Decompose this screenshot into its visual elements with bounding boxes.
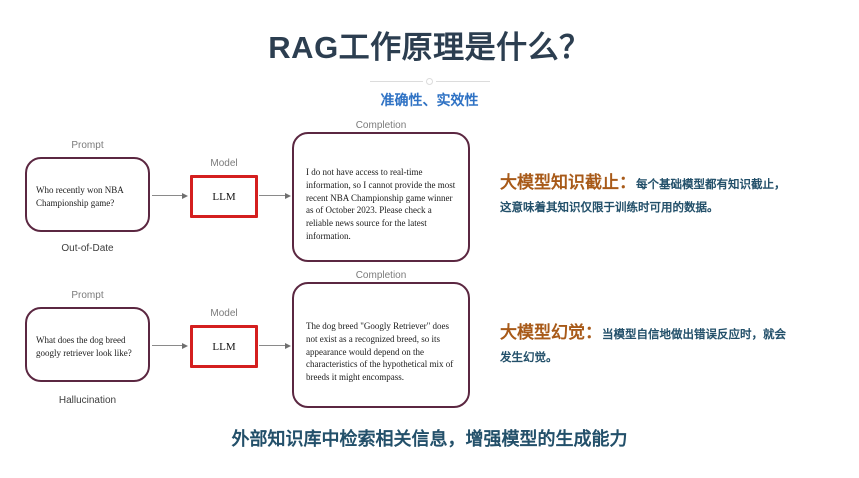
arrow-shaft — [152, 345, 182, 346]
arrow-prompt-to-model-icon — [152, 192, 188, 199]
completion-text: I do not have access to real-time inform… — [306, 166, 458, 243]
completion-box: The dog breed "Googly Retriever" does no… — [292, 282, 470, 408]
model-box: LLM — [190, 175, 258, 218]
arrow-shaft — [152, 195, 182, 196]
model-box: LLM — [190, 325, 258, 368]
prompt-box: What does the dog breed googly retriever… — [25, 307, 150, 382]
title-divider — [370, 77, 490, 86]
annotation-heading: 大模型幻觉： — [500, 323, 602, 342]
prompt-state-label: Hallucination — [25, 395, 150, 406]
flow-row-hallucination: Prompt What does the dog breed googly re… — [0, 268, 500, 418]
prompt-state-label: Out-of-Date — [25, 243, 150, 254]
model-name: LLM — [193, 341, 255, 353]
annotation-first-line: 大模型知识截止：每个基础模型都有知识截止， — [500, 168, 850, 196]
prompt-box: Who recently won NBA Championship game? — [25, 157, 150, 232]
arrow-prompt-to-model-icon — [152, 342, 188, 349]
divider-line-left — [370, 81, 424, 82]
annotation-knowledge-cutoff: 大模型知识截止：每个基础模型都有知识截止， 这意味着其知识仅限于训练时可用的数据… — [500, 168, 850, 220]
page-subtitle: 准确性、实效性 — [0, 90, 859, 110]
prompt-text: Who recently won NBA Championship game? — [36, 184, 144, 210]
annotation-hallucination: 大模型幻觉：当模型自信地做出错误反应时，就会 发生幻觉。 — [500, 318, 850, 370]
arrow-head — [182, 343, 188, 349]
prompt-label: Prompt — [25, 290, 150, 301]
arrow-model-to-completion-icon — [259, 192, 291, 199]
annotation-body-line1: 当模型自信地做出错误反应时，就会 — [602, 329, 786, 341]
annotation-body-line1: 每个基础模型都有知识截止， — [636, 179, 786, 191]
divider-line-right — [436, 81, 490, 82]
flow-row-out-of-date: Prompt Who recently won NBA Championship… — [0, 118, 500, 268]
arrow-model-to-completion-icon — [259, 342, 291, 349]
annotation-heading: 大模型知识截止： — [500, 173, 636, 192]
arrow-shaft — [259, 195, 285, 196]
arrow-head — [182, 193, 188, 199]
page-title: RAG工作原理是什么？ — [0, 22, 859, 67]
completion-label: Completion — [292, 120, 470, 131]
completion-text: The dog breed "Googly Retriever" does no… — [306, 320, 458, 384]
completion-box: I do not have access to real-time inform… — [292, 132, 470, 262]
prompt-text: What does the dog breed googly retriever… — [36, 334, 144, 360]
model-label: Model — [190, 308, 258, 319]
prompt-label: Prompt — [25, 140, 150, 151]
footer-caption: 外部知识库中检索相关信息，增强模型的生成能力 — [0, 425, 859, 451]
annotation-body-line2: 发生幻觉。 — [500, 348, 850, 370]
annotation-body-line2: 这意味着其知识仅限于训练时可用的数据。 — [500, 198, 850, 220]
divider-dot-icon — [426, 78, 433, 85]
completion-label: Completion — [292, 270, 470, 281]
arrow-shaft — [259, 345, 285, 346]
arrow-head — [285, 343, 291, 349]
model-name: LLM — [193, 191, 255, 203]
slide-canvas: RAG工作原理是什么？ 准确性、实效性 Prompt Who recently … — [0, 0, 859, 478]
arrow-head — [285, 193, 291, 199]
model-label: Model — [190, 158, 258, 169]
annotation-first-line: 大模型幻觉：当模型自信地做出错误反应时，就会 — [500, 318, 850, 346]
